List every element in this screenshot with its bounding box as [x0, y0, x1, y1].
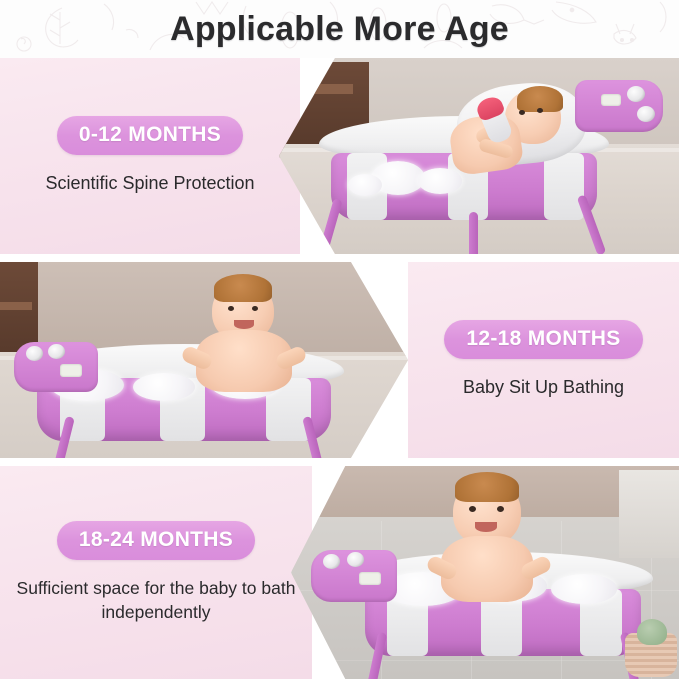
scene-newborn-bath	[279, 58, 679, 254]
scene-baby-sitting-bath	[0, 262, 408, 458]
age-badge-12-18: 12-18 MONTHS	[444, 320, 642, 359]
succulent-plant-icon	[637, 619, 667, 645]
age-badge-18-24: 18-24 MONTHS	[57, 521, 255, 560]
infographic-page: Applicable More Age 0-12 MONTHS Scientif…	[0, 0, 679, 679]
age-badge-0-12: 0-12 MONTHS	[57, 116, 243, 155]
section-1-photo	[279, 58, 679, 254]
section-row-3: 18-24 MONTHS Sufficient space for the ba…	[0, 466, 679, 679]
header-banner: Applicable More Age	[0, 0, 679, 58]
scene-toddler-bath	[291, 466, 679, 679]
section-row-1: 0-12 MONTHS Scientific Spine Protection	[0, 58, 679, 254]
section-2-photo	[0, 262, 408, 458]
section-row-2: 12-18 MONTHS Baby Sit Up Bathing	[0, 262, 679, 458]
section-1-text-panel: 0-12 MONTHS Scientific Spine Protection	[0, 58, 300, 254]
section-2-caption: Baby Sit Up Bathing	[463, 375, 624, 400]
section-2-text-panel: 12-18 MONTHS Baby Sit Up Bathing	[408, 262, 679, 458]
section-1-caption: Scientific Spine Protection	[45, 171, 254, 196]
page-title: Applicable More Age	[0, 0, 679, 58]
section-3-photo	[291, 466, 679, 679]
section-3-caption: Sufficient space for the baby to bath in…	[12, 576, 299, 624]
section-3-text-panel: 18-24 MONTHS Sufficient space for the ba…	[0, 466, 312, 679]
